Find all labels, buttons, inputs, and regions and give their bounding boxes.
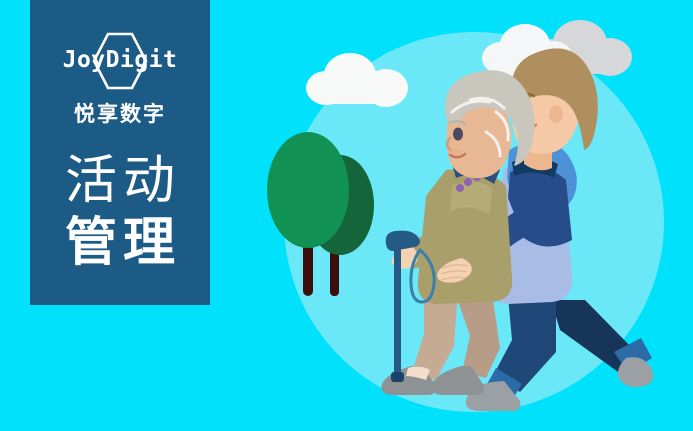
poster-canvas: JoyDigit 悦享数字 活动 管理 [0, 0, 693, 431]
brand-logo: JoyDigit [45, 32, 195, 92]
logo-subtitle: 悦享数字 [74, 98, 166, 128]
man-ear [549, 105, 563, 123]
logo-wordmark: JoyDigit [45, 46, 195, 74]
woman-eye [453, 128, 463, 141]
page-title-line-1: 活动 [30, 150, 210, 212]
woman-button-1 [456, 184, 464, 192]
page-title-line-2: 管理 [30, 212, 210, 274]
page-title: 活动 管理 [30, 150, 210, 274]
cane-tip [391, 372, 404, 382]
cane-shaft [394, 248, 401, 378]
woman-button-2 [464, 178, 472, 186]
banner-panel: JoyDigit 悦享数字 活动 管理 [30, 0, 210, 305]
